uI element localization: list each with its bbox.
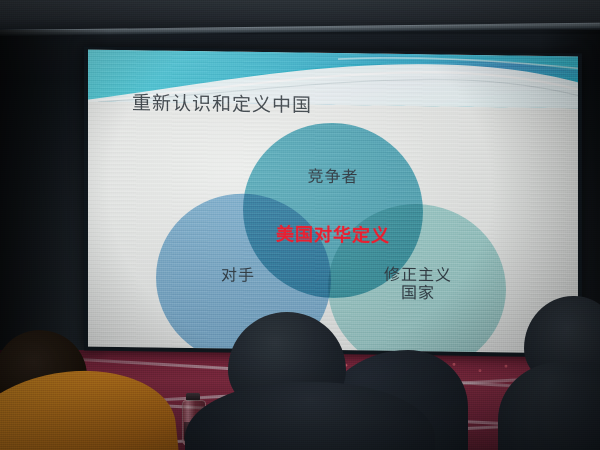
venn-diagram: 竞争者 对手 修正主义 国家 美国对华定义 [148,120,518,345]
venn-label-revisionist: 修正主义 国家 [353,265,483,304]
projection-screen: 重新认识和定义中国 竞争者 对手 修正主义 国家 美国对华定义 [84,47,582,358]
conference-photo-scene: 重新认识和定义中国 竞争者 对手 修正主义 国家 美国对华定义 [0,0,600,450]
venn-center-label: 美国对华定义 [208,219,458,248]
venn-label-competitor: 竞争者 [273,167,393,187]
slide-title: 重新认识和定义中国 [132,88,312,118]
venn-label-rival: 对手 [178,266,298,286]
presentation-slide: 重新认识和定义中国 竞争者 对手 修正主义 国家 美国对华定义 [88,50,578,354]
